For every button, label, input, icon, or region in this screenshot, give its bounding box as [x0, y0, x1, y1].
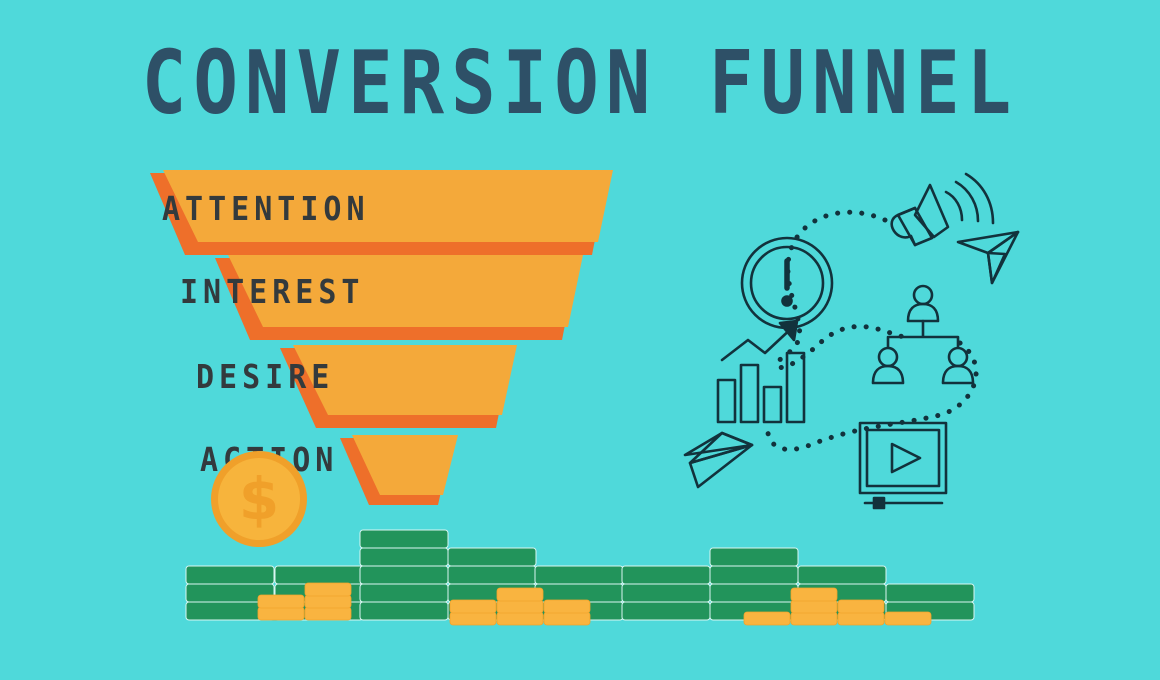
dotted-path [777, 212, 905, 367]
cash-stack [622, 566, 710, 620]
poster-canvas: CONVERSION FUNNEL ATTENTION INTEREST DES… [0, 0, 1160, 680]
funnel-stage-label-attention: ATTENTION [162, 190, 370, 229]
paper-plane-icon [685, 433, 752, 487]
funnel-stage-label-desire: DESIRE [196, 358, 334, 397]
alert-circle-icon [742, 238, 832, 328]
money-shapes [0, 520, 1160, 630]
paper-plane-icon [958, 232, 1018, 283]
cash-stack [710, 548, 798, 620]
megaphone-icon [892, 174, 993, 245]
page-title: CONVERSION FUNNEL [0, 40, 1160, 127]
bar-chart-growth-icon [718, 321, 804, 422]
video-player-icon [860, 423, 946, 508]
marketing-icon-cloud [670, 175, 1050, 505]
money-stacks [0, 520, 1160, 630]
funnel-stage-label-interest: INTEREST [180, 273, 365, 312]
cash-stack [360, 530, 448, 620]
